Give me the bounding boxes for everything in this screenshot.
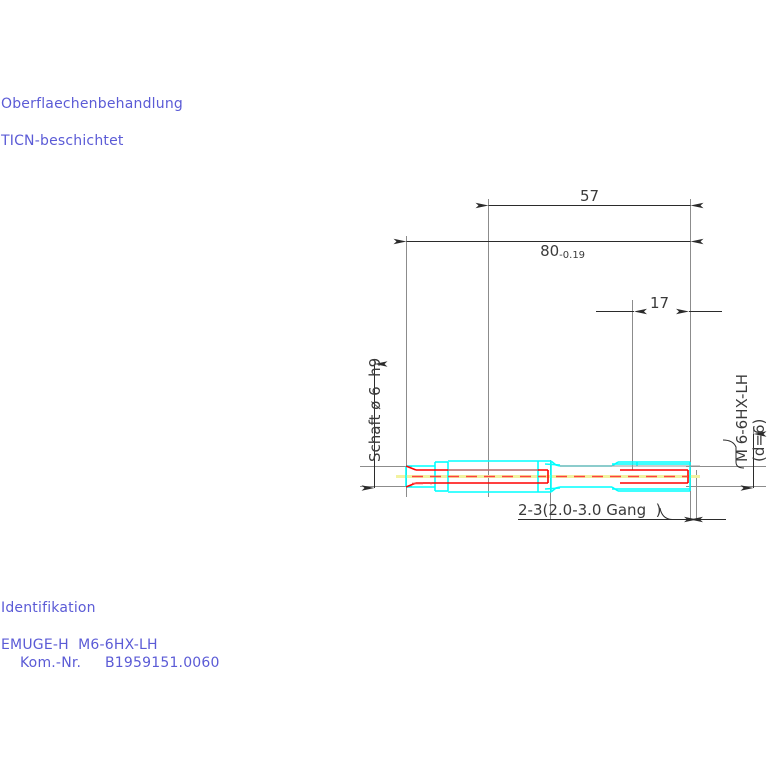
dimension-80-tolerance: -0.19 bbox=[559, 250, 585, 261]
manufacturer-designation: EMUGE-H M6-6HX-LH bbox=[1, 637, 158, 653]
dimension-label-shank-diameter: Schaft ø 6 h9 bbox=[366, 358, 384, 462]
surface-treatment-value: TICN-beschichtet bbox=[1, 133, 124, 149]
identification-label: Identifikation bbox=[1, 600, 96, 616]
order-number-label: Kom.-Nr. bbox=[20, 655, 81, 671]
dimension-80-nominal: 80 bbox=[540, 242, 559, 260]
thread-spec-line-2: (d=6) bbox=[750, 419, 767, 462]
surface-treatment-label: Oberflaechenbehandlung bbox=[1, 96, 183, 112]
thread-spec-line-1: M 6-6HX-LH bbox=[733, 374, 751, 462]
dimension-value-17: 17 bbox=[650, 294, 669, 312]
order-number-value: B1959151.0060 bbox=[105, 655, 220, 671]
dimension-value-57: 57 bbox=[580, 187, 599, 205]
cad-drawing-canvas: Oberflaechenbehandlung TICN-beschichtet … bbox=[0, 0, 767, 767]
chamfer-note-text: 2-3(2.0-3.0 Gang ) bbox=[518, 501, 661, 519]
dimension-value-80: 80-0.19 bbox=[521, 224, 585, 279]
